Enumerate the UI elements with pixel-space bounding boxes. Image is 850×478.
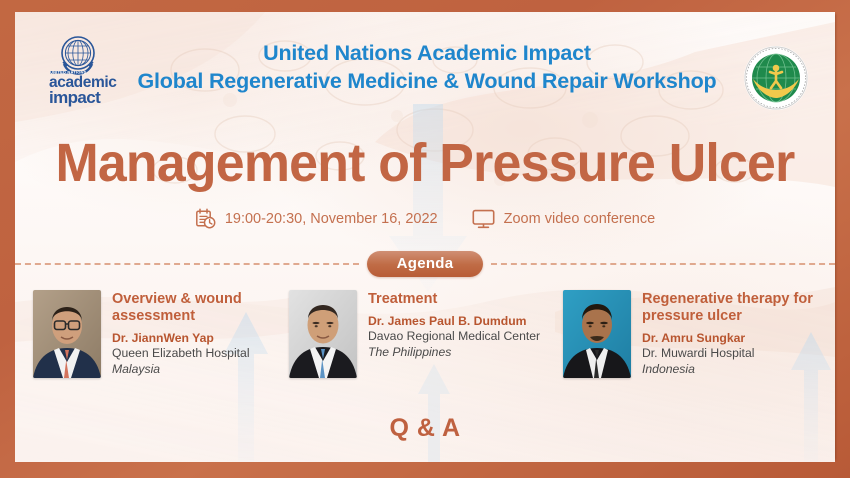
speaker-topic: Regenerative therapy for pressure ulcer [642,291,835,325]
header-title-block: United Nations Academic Impact Global Re… [123,40,731,95]
speaker-card: Regenerative therapy for pressure ulcer … [545,290,835,405]
society-emblem-logo [743,45,809,111]
agenda-dash-right [491,263,835,265]
speaker-country: The Philippines [368,344,540,360]
speaker-name: Dr. JiannWen Yap [112,330,283,346]
speaker-organization: Dr. Muwardi Hospital [642,346,835,361]
poster-root: UNITED NATIONS academic impact United Na… [0,0,850,478]
header-title-line-1: United Nations Academic Impact [123,40,731,67]
page-title: Management of Pressure Ulcer [31,132,818,194]
speaker-info: Overview & wound assessment Dr. JiannWen… [112,290,283,405]
un-academic-impact-logo: UNITED NATIONS academic impact [39,35,117,107]
speaker-photo-jiannwen-yap [33,290,101,378]
speaker-topic: Overview & wound assessment [112,291,283,325]
agenda-divider: Agenda [15,251,835,277]
agenda-badge: Agenda [367,251,484,277]
speaker-country: Malaysia [112,361,283,377]
svg-text:impact: impact [49,88,101,107]
speaker-name: Dr. Amru Sungkar [642,330,835,346]
qa-label: Q & A [15,414,835,443]
speaker-topic: Treatment [368,291,540,308]
event-datetime: 19:00-20:30, November 16, 2022 [195,208,438,229]
speaker-list: Overview & wound assessment Dr. JiannWen… [15,290,835,405]
header-title-line-2: Global Regenerative Medicine & Wound Rep… [123,67,731,95]
poster-canvas: UNITED NATIONS academic impact United Na… [15,12,835,462]
speaker-card: Treatment Dr. James Paul B. Dumdum Davao… [283,290,545,405]
agenda-dash-left [15,263,359,265]
speaker-organization: Davao Regional Medical Center [368,329,540,344]
speaker-card: Overview & wound assessment Dr. JiannWen… [15,290,283,405]
monitor-icon [472,209,495,229]
speaker-photo-amru-sungkar [563,290,631,378]
speaker-name: Dr. James Paul B. Dumdum [368,313,540,329]
event-platform: Zoom video conference [472,209,656,229]
event-platform-text: Zoom video conference [504,211,656,227]
event-datetime-text: 19:00-20:30, November 16, 2022 [225,211,438,227]
calendar-clock-icon [195,208,216,229]
speaker-info: Regenerative therapy for pressure ulcer … [642,290,835,405]
event-meta-row: 19:00-20:30, November 16, 2022 Zoom vide… [15,208,835,229]
speaker-info: Treatment Dr. James Paul B. Dumdum Davao… [368,290,540,405]
speaker-country: Indonesia [642,361,835,377]
poster-header: UNITED NATIONS academic impact United Na… [15,12,835,112]
speaker-photo-james-paul-dumdum [289,290,357,378]
speaker-organization: Queen Elizabeth Hospital [112,346,283,361]
